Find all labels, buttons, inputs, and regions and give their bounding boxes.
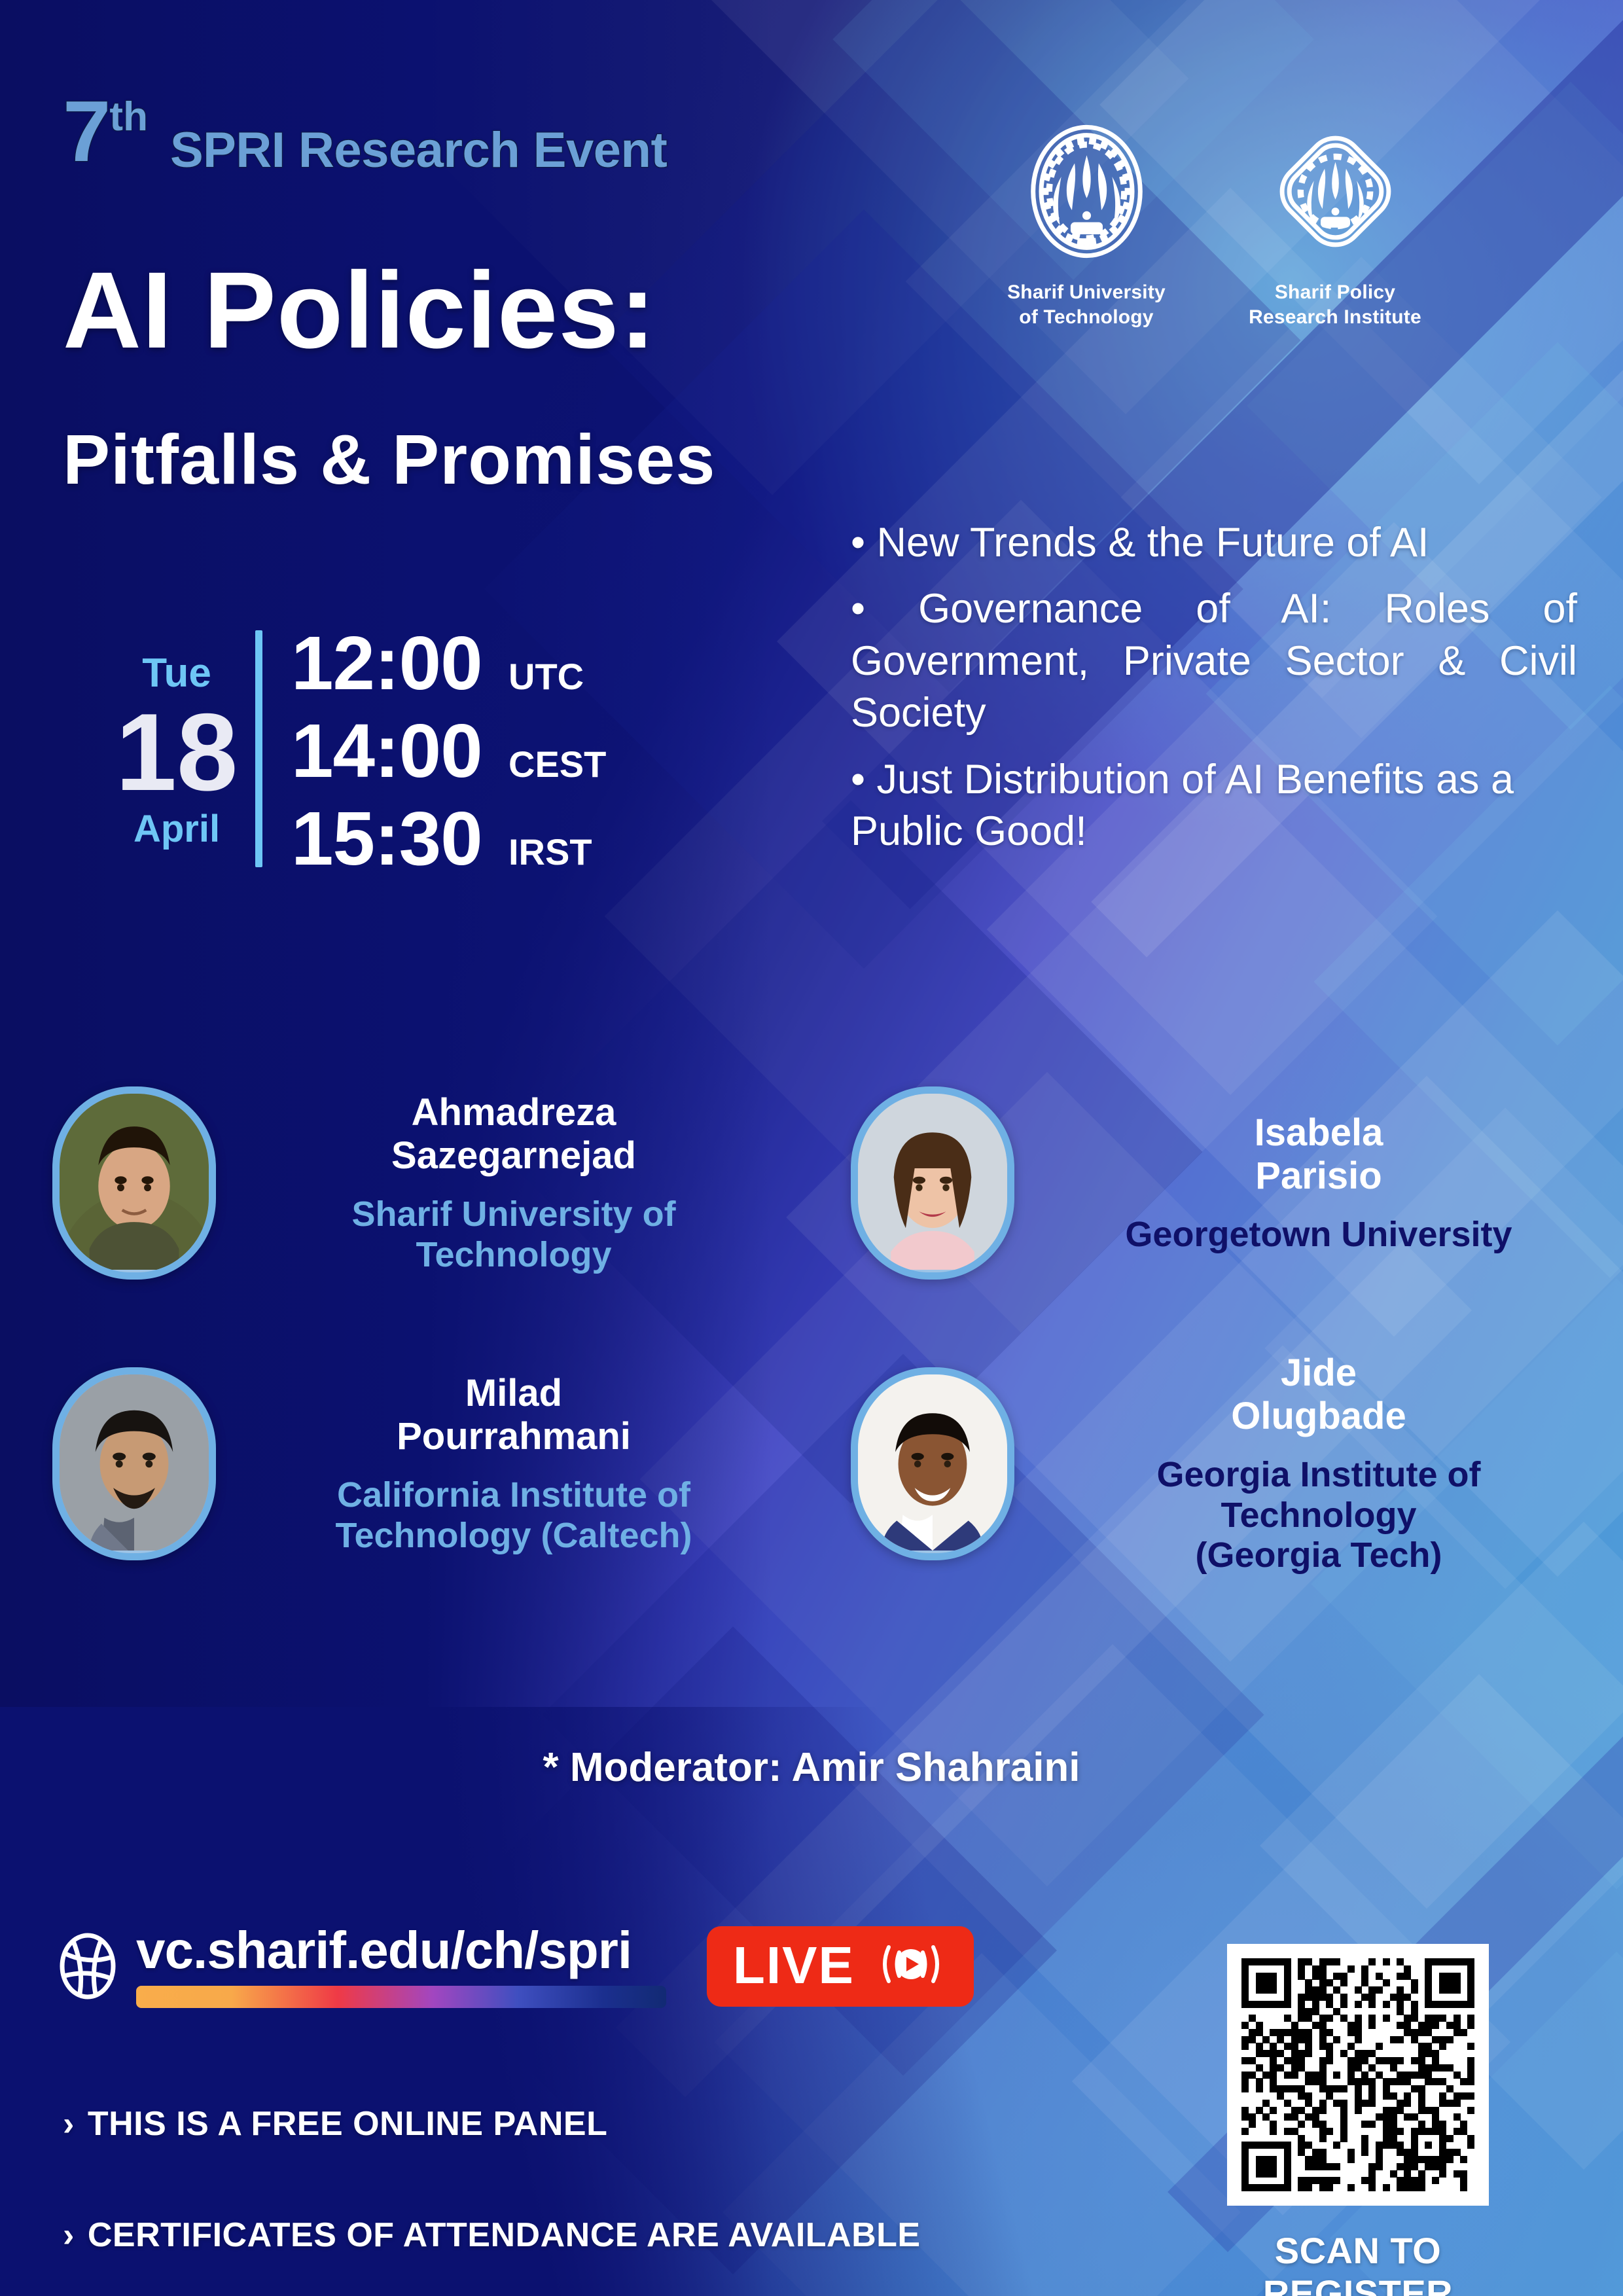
datetime-divider xyxy=(255,630,262,867)
speaker-name: AhmadrezaSazegarnejad xyxy=(229,1091,798,1177)
live-badge: LIVE xyxy=(707,1926,974,2007)
topic-item: • New Trends & the Future of AI xyxy=(851,517,1577,569)
speaker-name: MiladPourrahmani xyxy=(229,1372,798,1458)
speaker-info: IsabelaParisio Georgetown University xyxy=(1014,1111,1623,1255)
topic-item: • Just Distribution of AI Benefits as a … xyxy=(851,754,1577,858)
sharif-policy-institute-crest-icon xyxy=(1268,118,1402,268)
day-of-week: Tue xyxy=(142,653,211,694)
note-text: CERTIFICATES OF ATTENDANCE ARE AVAILABLE xyxy=(88,2215,921,2255)
qr-caption: SCAN TO REGISTER xyxy=(1227,2229,1489,2296)
timezone-row: 14:00 CEST xyxy=(291,713,606,789)
note-text: THIS IS A FREE ONLINE PANEL xyxy=(88,2104,608,2144)
timezone-label: CEST xyxy=(508,746,606,783)
timezone-list: 12:00 UTC 14:00 CEST 15:30 IRST xyxy=(291,625,606,876)
speaker-card: JideOlugbade Georgia Institute ofTechnol… xyxy=(811,1352,1623,1576)
speaker-row: AhmadrezaSazegarnejad Sharif University … xyxy=(0,1086,1623,1280)
qr-code-icon[interactable] xyxy=(1227,1944,1489,2206)
event-series-name: SPRI Research Event xyxy=(170,122,667,179)
speaker-row: MiladPourrahmani California Institute of… xyxy=(0,1352,1623,1576)
logo-sharif-policy-research-institute: Sharif PolicyResearch Institute xyxy=(1237,118,1433,329)
time-value: 15:30 xyxy=(291,800,494,876)
avatar xyxy=(851,1367,1014,1560)
speaker-card: IsabelaParisio Georgetown University xyxy=(811,1086,1623,1280)
speaker-name: JideOlugbade xyxy=(1027,1352,1610,1438)
speaker-affiliation: California Institute ofTechnology (Calte… xyxy=(229,1475,798,1556)
timezone-label: UTC xyxy=(508,658,584,695)
live-broadcast-icon xyxy=(872,1937,950,1995)
page-title: AI Policies: xyxy=(63,257,656,365)
event-date: Tue 18 April xyxy=(98,625,255,876)
ordinal-number: 7 xyxy=(63,92,109,171)
speaker-card: MiladPourrahmani California Institute of… xyxy=(0,1352,811,1576)
event-poster: 7 th SPRI Research Event AI Policies: Pi… xyxy=(0,0,1623,2296)
globe-icon xyxy=(58,1930,118,2002)
logo-group: Sharif Universityof Technology xyxy=(988,118,1433,329)
note-free-panel: › THIS IS A FREE ONLINE PANEL xyxy=(63,2104,607,2144)
live-label: LIVE xyxy=(733,1939,855,1992)
registration-qr: SCAN TO REGISTER xyxy=(1227,1944,1489,2296)
time-value: 12:00 xyxy=(291,625,494,701)
speaker-info: AhmadrezaSazegarnejad Sharif University … xyxy=(216,1091,811,1275)
timezone-label: IRST xyxy=(508,834,592,870)
speaker-info: MiladPourrahmani California Institute of… xyxy=(216,1372,811,1556)
speaker-card: AhmadrezaSazegarnejad Sharif University … xyxy=(0,1086,811,1280)
speaker-affiliation: Georgia Institute ofTechnology(Georgia T… xyxy=(1027,1455,1610,1576)
stream-url[interactable]: vc.sharif.edu/ch/spri xyxy=(136,1924,666,1977)
stream-link-row: vc.sharif.edu/ch/spri LIVE xyxy=(58,1924,974,2008)
topic-list: • New Trends & the Future of AI • Govern… xyxy=(851,517,1577,872)
chevron-right-icon: › xyxy=(63,2218,75,2252)
speaker-info: JideOlugbade Georgia Institute ofTechnol… xyxy=(1014,1352,1623,1576)
page-subtitle: Pitfalls & Promises xyxy=(63,424,715,495)
avatar xyxy=(851,1086,1014,1280)
note-certificates: › CERTIFICATES OF ATTENDANCE ARE AVAILAB… xyxy=(63,2215,921,2255)
sharif-university-crest-icon xyxy=(1020,118,1154,268)
month-name: April xyxy=(134,810,220,848)
event-series-heading: 7 th SPRI Research Event xyxy=(63,92,667,179)
topic-item: • Governance of AI: Roles of Government,… xyxy=(851,583,1577,739)
speaker-name: IsabelaParisio xyxy=(1027,1111,1610,1198)
logo-sharif-university: Sharif Universityof Technology xyxy=(988,118,1185,329)
logo-caption: Sharif PolicyResearch Institute xyxy=(1249,280,1421,329)
time-value: 14:00 xyxy=(291,713,494,789)
timezone-row: 12:00 UTC xyxy=(291,625,606,701)
speaker-affiliation: Sharif University ofTechnology xyxy=(229,1194,798,1275)
speaker-grid: AhmadrezaSazegarnejad Sharif University … xyxy=(0,1086,1623,1576)
logo-caption: Sharif Universityof Technology xyxy=(1007,280,1166,329)
speaker-affiliation: Georgetown University xyxy=(1027,1215,1610,1255)
ordinal-suffix: th xyxy=(109,97,148,137)
avatar xyxy=(52,1367,216,1560)
url-underline-gradient xyxy=(136,1986,666,2008)
event-datetime: Tue 18 April 12:00 UTC 14:00 CEST 15:30 … xyxy=(98,625,606,876)
moderator-note: * Moderator: Amir Shahraini xyxy=(0,1744,1623,1791)
avatar xyxy=(52,1086,216,1280)
timezone-row: 15:30 IRST xyxy=(291,800,606,876)
chevron-right-icon: › xyxy=(63,2107,75,2141)
day-number: 18 xyxy=(116,696,238,808)
